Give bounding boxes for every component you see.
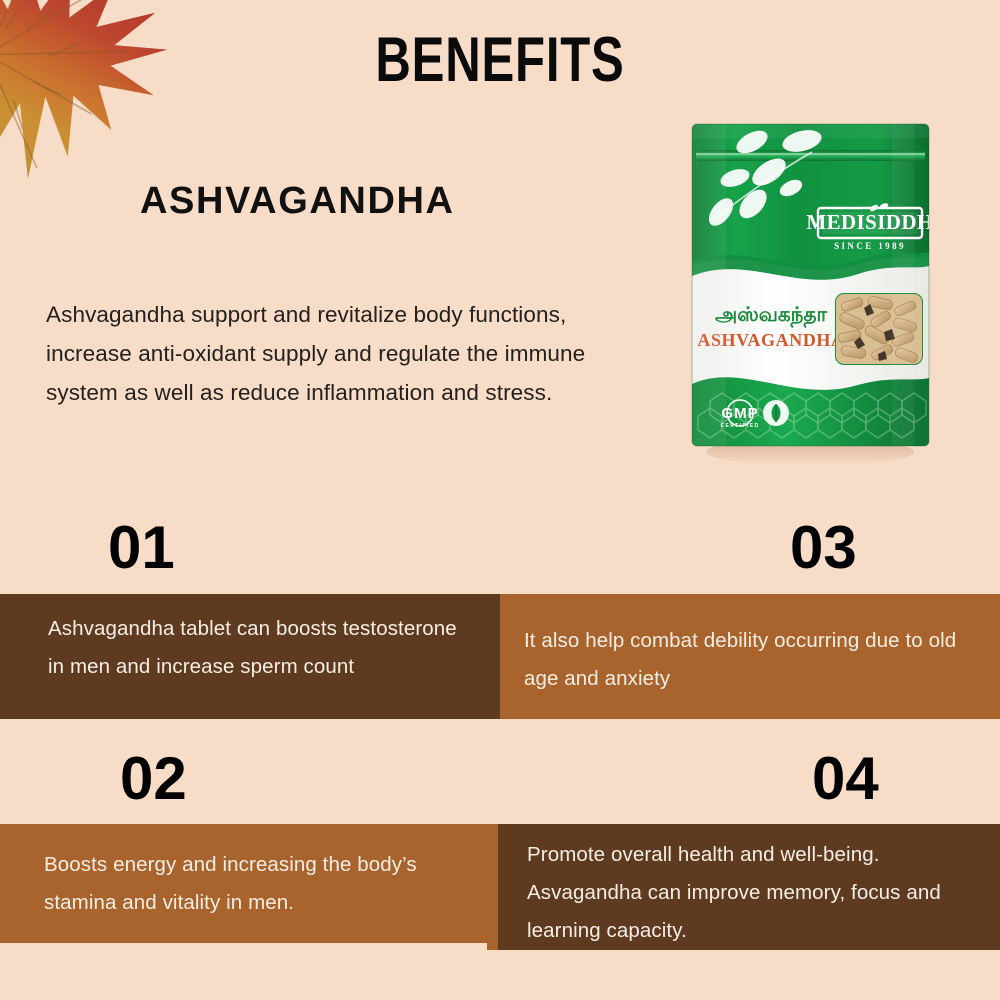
benefit-band-04: Promote overall health and well-being. A… — [487, 824, 1000, 950]
product-package-image: MEDISIDDH SINCE 1989 அஸ்வகந்தா ASHVAGAND… — [678, 116, 943, 476]
intro-paragraph: Ashvagandha support and revitalize body … — [46, 295, 586, 412]
benefit-number-03: 03 — [790, 513, 857, 582]
benefit-band-01: Ashvagandha tablet can boosts testostero… — [0, 594, 500, 719]
benefit-number-01: 01 — [108, 513, 175, 582]
product-heading: ASHVAGANDHA — [140, 180, 455, 223]
benefit-text-04: Promote overall health and well-being. A… — [527, 836, 976, 950]
benefit-number-04: 04 — [812, 744, 879, 813]
benefit-number-02: 02 — [120, 744, 187, 813]
package-brand-text: MEDISIDDH — [806, 210, 933, 234]
page-title: BENEFITS — [110, 24, 890, 96]
package-name-tamil: அஸ்வகந்தா — [715, 304, 828, 328]
benefit-text-01: Ashvagandha tablet can boosts testostero… — [48, 610, 460, 686]
benefit-band-02: Boosts energy and increasing the body’s … — [0, 824, 487, 943]
gmp-certified-icon: GMP CERTIFIED — [721, 400, 760, 429]
benefit-band-03: It also help combat debility occurring d… — [500, 594, 1000, 719]
benefit-text-02: Boosts energy and increasing the body’s … — [44, 846, 457, 922]
benefit-text-03: It also help combat debility occurring d… — [524, 622, 968, 698]
benefits-poster: BENEFITS ASHVAGANDHA Ashvagandha support… — [0, 0, 1000, 1000]
